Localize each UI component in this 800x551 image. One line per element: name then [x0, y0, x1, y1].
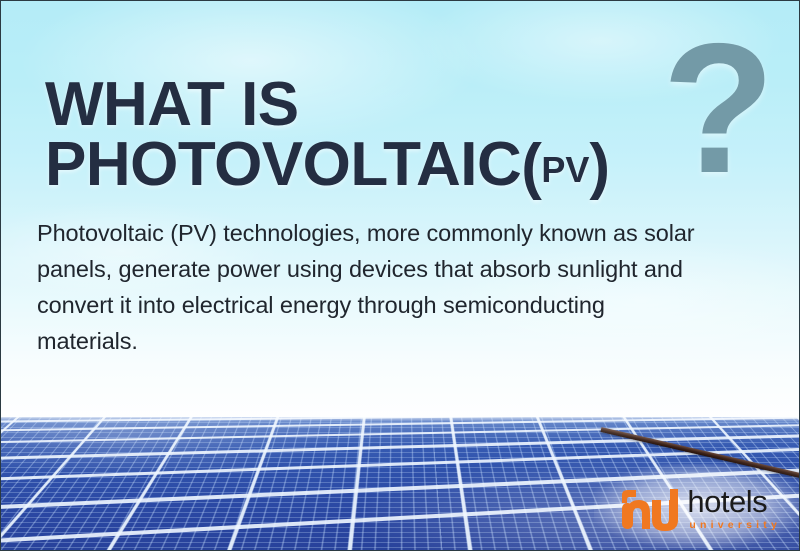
title-paren-close: ) [589, 132, 609, 201]
title-line-1: WHAT IS [45, 70, 299, 139]
title-main-word: PHOTOVOLTAIC [45, 130, 521, 199]
hu-monogram-icon [620, 483, 682, 533]
title-abbreviation: PV [541, 149, 589, 190]
panel-row-line [1, 423, 800, 444]
brand-logo[interactable]: hotels university [620, 482, 781, 534]
logo-wordmark: hotels university [687, 486, 781, 531]
infographic-poster: WHAT IS PHOTOVOLTAIC(PV) ? Photovoltaic … [0, 0, 800, 551]
title-line-2: PHOTOVOLTAIC(PV) [45, 135, 705, 198]
logo-primary-text: hotels [687, 486, 781, 517]
title-paren-open: ( [521, 132, 541, 201]
logo-secondary-text: university [689, 520, 781, 531]
page-title: WHAT IS PHOTOVOLTAIC(PV) [45, 75, 705, 199]
body-paragraph: Photovoltaic (PV) technologies, more com… [37, 215, 697, 359]
horizon-glow [1, 417, 800, 422]
